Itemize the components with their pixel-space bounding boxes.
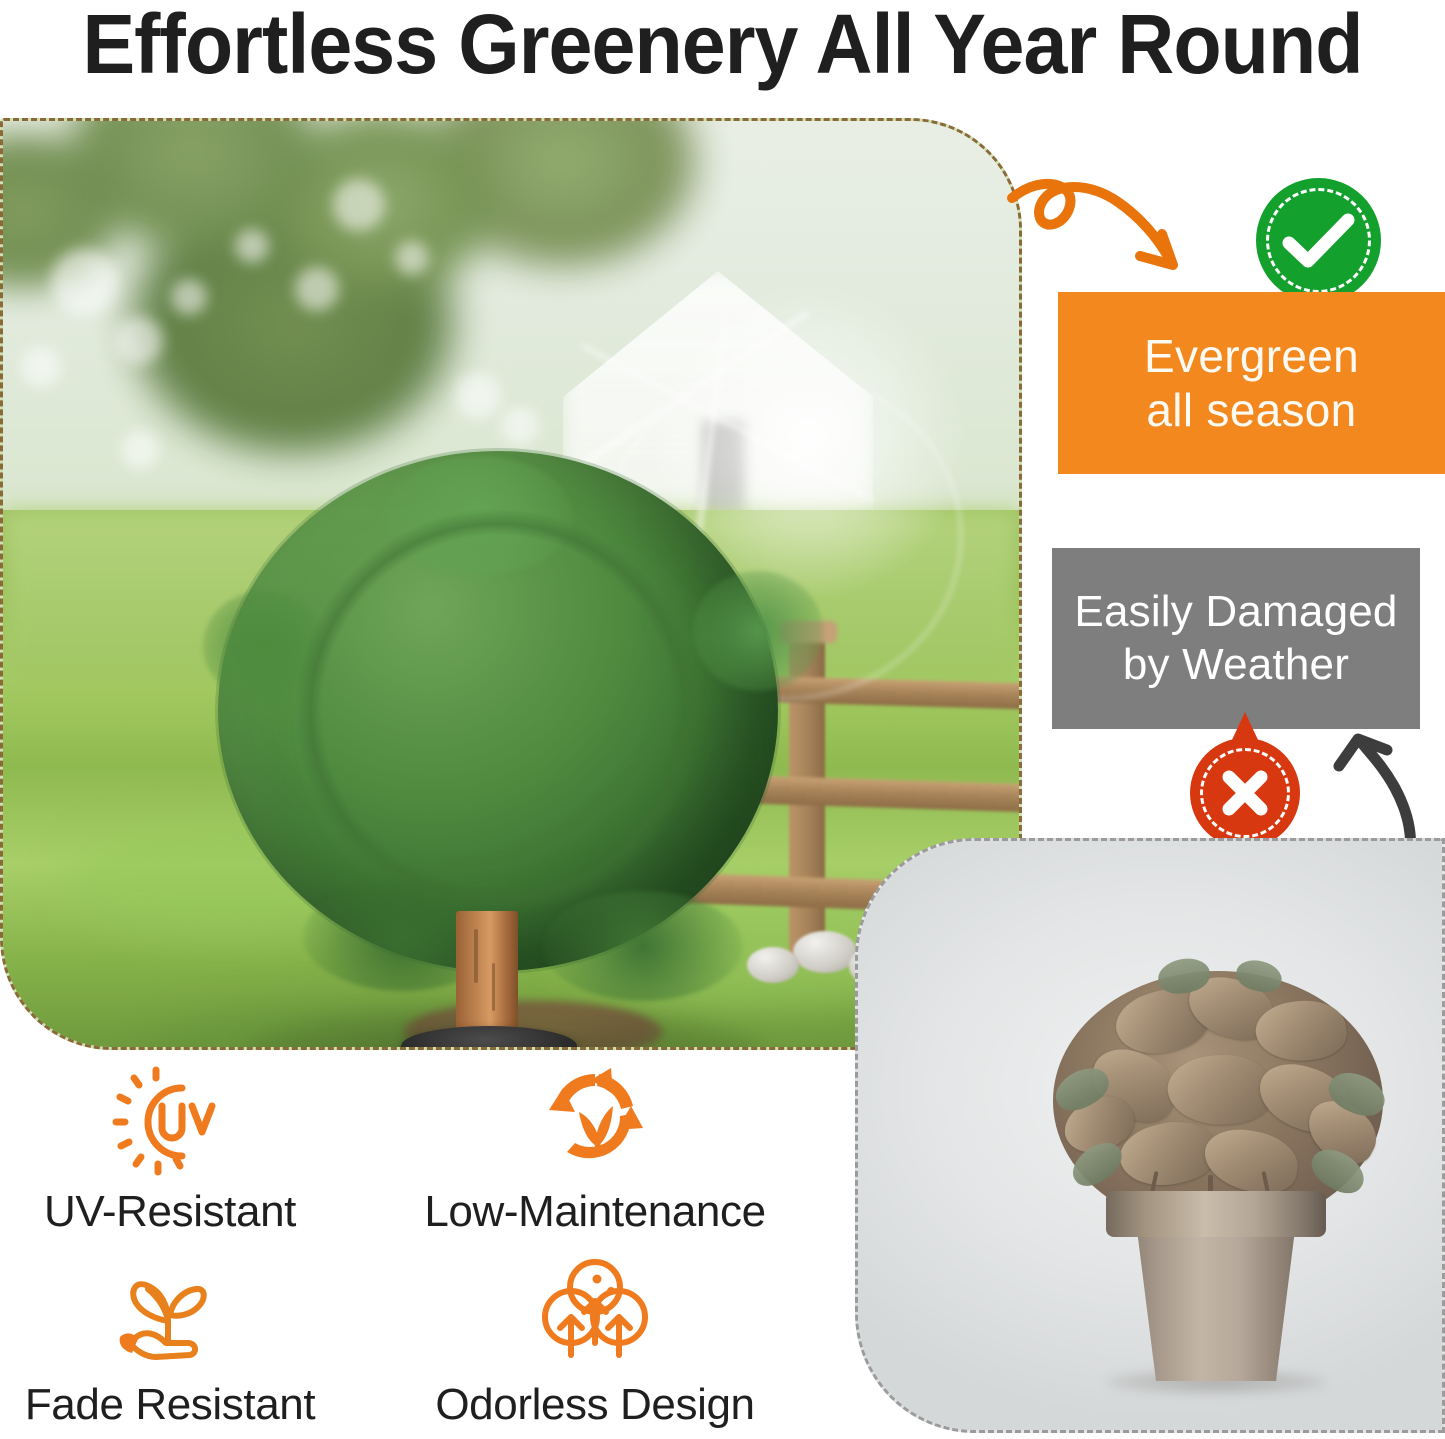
bokeh-dot bbox=[501, 407, 539, 445]
feature-label: Odorless Design bbox=[435, 1380, 754, 1430]
recycle-leaf-icon bbox=[535, 1066, 655, 1181]
fresh-air-clouds-icon bbox=[535, 1259, 655, 1374]
feature-label: Low-Maintenance bbox=[424, 1187, 765, 1237]
feature-odorless-design: Odorless Design bbox=[385, 1259, 805, 1439]
status-badge-evergreen: Evergreen all season bbox=[1058, 292, 1445, 474]
status-badge-damaged: Easily Damaged by Weather bbox=[1052, 548, 1420, 729]
river-rock bbox=[747, 947, 799, 983]
badge-line-2: by Weather bbox=[1123, 639, 1349, 692]
uv-sun-icon bbox=[110, 1066, 230, 1181]
feature-low-maintenance: Low-Maintenance bbox=[385, 1066, 805, 1246]
feature-label: UV-Resistant bbox=[44, 1187, 296, 1237]
feature-fade-resistant: Fade Resistant bbox=[0, 1259, 380, 1439]
hand-sprout-icon bbox=[110, 1259, 230, 1374]
trunk-grain bbox=[474, 929, 478, 983]
bokeh-dot bbox=[455, 373, 501, 419]
bokeh-dot bbox=[171, 279, 207, 315]
bokeh-dot bbox=[235, 229, 269, 263]
badge-line-1: Evergreen bbox=[1144, 329, 1359, 383]
orange-curly-arrow-icon bbox=[1010, 168, 1220, 298]
pin-dashed-ring bbox=[1200, 748, 1290, 838]
bokeh-dot bbox=[395, 241, 429, 275]
feature-label: Fade Resistant bbox=[25, 1380, 315, 1430]
comparison-photo-damaged-plant bbox=[855, 838, 1445, 1433]
feature-uv-resistant: UV-Resistant bbox=[0, 1066, 380, 1246]
bokeh-dot bbox=[21, 347, 61, 387]
bokeh-dot bbox=[115, 317, 163, 365]
feature-list: UV-Resistant Low-Maintenance bbox=[0, 1066, 860, 1433]
bokeh-dot bbox=[51, 249, 117, 315]
bokeh-dot bbox=[333, 179, 385, 231]
page-title: Effortless Greenery All Year Round bbox=[43, 0, 1401, 94]
badge-line-1: Easily Damaged bbox=[1074, 586, 1397, 639]
pin-dashed-ring bbox=[1266, 188, 1371, 293]
topiary-edge-texture bbox=[218, 451, 778, 971]
bokeh-dot bbox=[295, 267, 339, 311]
trunk-grain bbox=[492, 963, 495, 1011]
badge-line-2: all season bbox=[1146, 383, 1356, 437]
terracotta-pot-rim bbox=[1106, 1191, 1326, 1237]
bokeh-dot bbox=[121, 431, 159, 469]
river-rock bbox=[793, 931, 857, 973]
